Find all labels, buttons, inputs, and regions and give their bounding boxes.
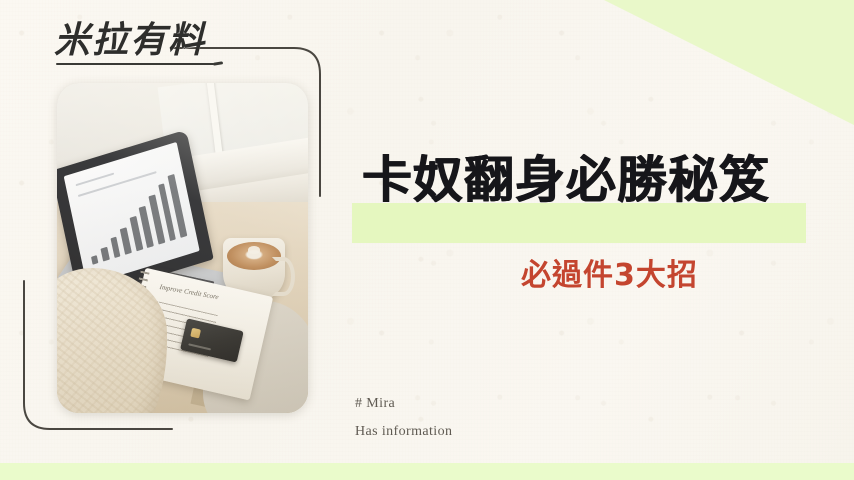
photo-credit-card-stripe	[188, 343, 211, 351]
photo-laptop-screen	[64, 142, 200, 285]
photo-notebook-title: Improve Credit Score	[160, 283, 220, 301]
meta-tagline: Has information	[355, 418, 452, 446]
title-highlight-band	[352, 203, 806, 243]
meta-handle: # Mira	[355, 390, 452, 418]
brand-logo-text: 米拉有料	[54, 22, 206, 58]
subtitle: 必過件3大招	[521, 261, 698, 291]
photo-latte-art	[248, 246, 261, 253]
brand-logo: 米拉有料	[54, 22, 206, 58]
main-title: 卡奴翻身必勝秘笈	[362, 155, 770, 205]
photo-screen-line-1	[75, 173, 114, 187]
photo-screen-bar-chart	[79, 171, 188, 265]
photo-credit-card-chip	[191, 328, 202, 338]
poster-canvas: 米拉有料	[0, 0, 854, 480]
hero-photo: Improve Credit Score	[57, 83, 308, 413]
meta-block: # Mira Has information	[355, 390, 452, 446]
bottom-green-band	[0, 463, 854, 480]
brand-logo-underline	[56, 63, 214, 65]
hero-photo-scene: Improve Credit Score	[57, 83, 308, 413]
